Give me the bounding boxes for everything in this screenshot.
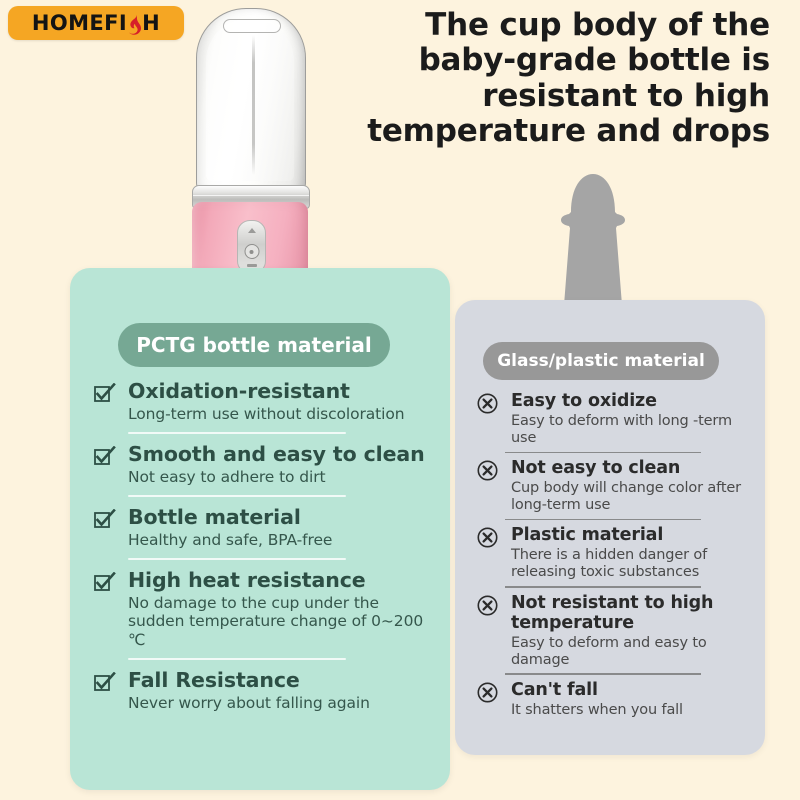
list-item-title: Oxidation-resistant <box>128 380 434 404</box>
pctg-benefits-card: PCTG bottle material Oxidation-resistant… <box>70 268 450 790</box>
divider <box>505 519 701 520</box>
list-item-desc: Never worry about falling again <box>128 694 434 713</box>
pctg-feature-list: Oxidation-resistant Long-term use withou… <box>94 380 434 718</box>
list-item: Not resistant to high temperature Easy t… <box>471 594 755 669</box>
divider <box>505 452 701 453</box>
glass-plastic-bottle-silhouette <box>537 168 649 318</box>
list-item-desc: Healthy and safe, BPA-free <box>128 531 434 550</box>
checkbox-check-icon <box>94 572 111 589</box>
divider <box>128 558 346 560</box>
infographic-canvas: HOMEFI H The cup body of the baby-grade … <box>0 0 800 800</box>
divider <box>128 495 346 497</box>
blender-power-button <box>244 244 259 259</box>
brand-logo-text: HOMEFI H <box>32 13 160 34</box>
list-item-desc: There is a hidden danger of releasing to… <box>511 547 755 581</box>
flame-s-icon <box>127 13 142 34</box>
list-item-title: Plastic material <box>511 526 755 546</box>
blender-cup-contents <box>206 19 294 181</box>
list-item-desc: Easy to deform with long -term use <box>511 413 755 447</box>
circle-x-icon <box>477 460 498 481</box>
glass-plastic-badge-label: Glass/plastic material <box>497 351 705 371</box>
glass-plastic-badge: Glass/plastic material <box>483 342 719 380</box>
headline-line-4: temperature and drops <box>350 114 770 149</box>
divider <box>128 432 346 434</box>
list-item: High heat resistance No damage to the cu… <box>94 569 434 650</box>
glass-plastic-drawbacks-card: Glass/plastic material Easy to oxidize E… <box>455 300 765 755</box>
list-item-desc: It shatters when you fall <box>511 702 755 719</box>
list-item-title: Fall Resistance <box>128 669 434 693</box>
blender-panel-bar-icon <box>247 264 257 267</box>
headline: The cup body of the baby-grade bottle is… <box>350 8 770 149</box>
checkbox-check-icon <box>94 446 111 463</box>
glass-plastic-drawback-list: Easy to oxidize Easy to deform with long… <box>471 392 755 721</box>
brand-logo-text-left: HOMEFI <box>32 13 127 34</box>
blender-cup-highlight <box>252 35 255 175</box>
checkbox-check-icon <box>94 509 111 526</box>
list-item: Bottle material Healthy and safe, BPA-fr… <box>94 506 434 549</box>
list-item-title: Bottle material <box>128 506 434 530</box>
checkbox-check-icon <box>94 672 111 689</box>
blender-control-panel <box>237 220 266 274</box>
list-item-title: Not easy to clean <box>511 459 755 479</box>
headline-line-1: The cup body of the <box>350 8 770 43</box>
divider <box>505 586 701 587</box>
list-item-desc: Easy to deform and easy to damage <box>511 635 755 669</box>
list-item-title: Can't fall <box>511 681 755 701</box>
checkbox-check-icon <box>94 383 111 400</box>
brand-logo: HOMEFI H <box>8 6 184 40</box>
circle-x-icon <box>477 527 498 548</box>
product-image-blender <box>186 2 314 294</box>
list-item-title: Easy to oxidize <box>511 392 755 412</box>
divider <box>505 673 701 674</box>
list-item: Plastic material There is a hidden dange… <box>471 526 755 581</box>
list-item-desc: No damage to the cup under the sudden te… <box>128 594 434 650</box>
circle-x-icon <box>477 393 498 414</box>
list-item-title: High heat resistance <box>128 569 434 593</box>
headline-line-2: baby-grade bottle is <box>350 43 770 78</box>
list-item: Oxidation-resistant Long-term use withou… <box>94 380 434 423</box>
blender-lid-seam <box>223 19 281 33</box>
list-item: Easy to oxidize Easy to deform with long… <box>471 392 755 447</box>
circle-x-icon <box>477 595 498 616</box>
list-item-desc: Not easy to adhere to dirt <box>128 468 434 487</box>
list-item-desc: Long-term use without discoloration <box>128 405 434 424</box>
brand-logo-text-right: H <box>142 13 160 34</box>
list-item-desc: Cup body will change color after long-te… <box>511 480 755 514</box>
list-item: Can't fall It shatters when you fall <box>471 681 755 719</box>
blender-cup-body <box>196 8 306 192</box>
pctg-badge-label: PCTG bottle material <box>136 333 371 357</box>
list-item-title: Smooth and easy to clean <box>128 443 434 467</box>
list-item: Smooth and easy to clean Not easy to adh… <box>94 443 434 486</box>
list-item: Not easy to clean Cup body will change c… <box>471 459 755 514</box>
divider <box>128 658 346 660</box>
circle-x-icon <box>477 682 498 703</box>
list-item: Fall Resistance Never worry about fallin… <box>94 669 434 712</box>
pctg-badge: PCTG bottle material <box>118 323 390 367</box>
blender-panel-triangle-icon <box>248 228 256 233</box>
list-item-title: Not resistant to high temperature <box>511 594 755 634</box>
headline-line-3: resistant to high <box>350 79 770 114</box>
